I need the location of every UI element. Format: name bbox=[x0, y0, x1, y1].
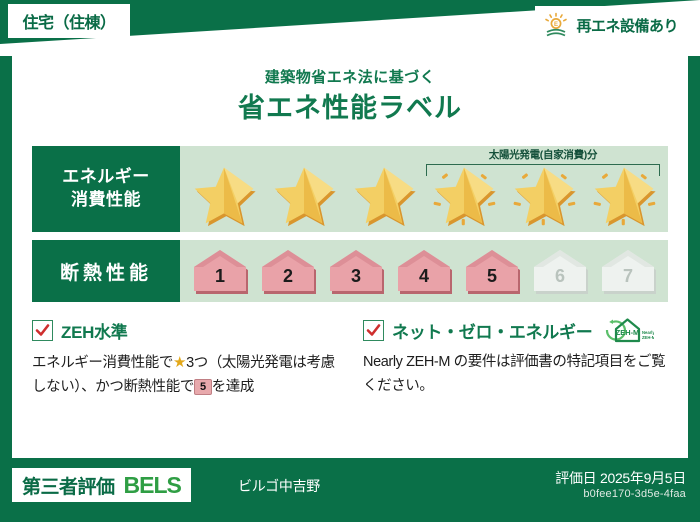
insulation-level-number: 4 bbox=[393, 266, 455, 287]
label-subtitle: 建築物省エネ法に基づく bbox=[12, 66, 688, 87]
claim-zeh-title: ZEH水準 bbox=[61, 318, 128, 343]
insulation-row-value: 1 2 3 4 5 6 7 bbox=[180, 240, 668, 302]
bels-logo-text: BELS bbox=[124, 472, 181, 499]
evaluation-id: b0fee170-3d5e-4faa bbox=[583, 488, 686, 500]
insulation-level-scale: 1 2 3 4 5 6 7 bbox=[180, 240, 668, 302]
energy-consumption-row: エネルギー 消費性能 太陽光発電(自家消費)分 bbox=[32, 146, 668, 232]
solar-sun-icon: E bbox=[543, 12, 569, 38]
energy-key-line1: エネルギー bbox=[62, 166, 150, 189]
insulation-level-house-icon: 2 bbox=[257, 246, 319, 296]
energy-row-value: 太陽光発電(自家消費)分 bbox=[180, 146, 668, 232]
insulation-level-number: 1 bbox=[189, 266, 251, 287]
check-icon bbox=[363, 320, 384, 341]
bels-certification-chip: 第三者評価 BELS bbox=[12, 468, 191, 502]
star-icon bbox=[187, 162, 261, 228]
label-title: 省エネ性能ラベル bbox=[12, 86, 688, 125]
insulation-row-key: 断熱性能 bbox=[32, 240, 180, 302]
inline-star-icon: ★ bbox=[173, 354, 186, 371]
claim-zeh-standard: ZEH水準 エネルギー消費性能で★3つ（太陽光発電は考慮しない）、かつ断熱性能で… bbox=[32, 316, 337, 442]
renewable-badge-label: 再エネ設備あり bbox=[576, 15, 678, 36]
building-name: ビルゴ中吉野 bbox=[238, 476, 320, 496]
svg-text:ZEH-M: ZEH-M bbox=[642, 335, 654, 340]
claims-section: ZEH水準 エネルギー消費性能で★3つ（太陽光発電は考慮しない）、かつ断熱性能で… bbox=[32, 316, 668, 442]
insulation-level-house-icon: 5 bbox=[461, 246, 523, 296]
renewable-energy-badge: E 再エネ設備あり bbox=[535, 6, 690, 44]
third-party-eval-label: 第三者評価 bbox=[22, 472, 115, 499]
insulation-performance-row: 断熱性能 1 2 3 4 5 bbox=[32, 240, 668, 302]
insulation-level-house-icon: 7 bbox=[597, 246, 659, 296]
claim-net-zero-energy: ネット・ゼロ・エネルギー ZEH-M Nearly ZEH-M Nearly Z… bbox=[363, 316, 668, 442]
star-icon bbox=[427, 162, 501, 228]
star-icon bbox=[587, 162, 661, 228]
building-type-chip: 住宅（住棟） bbox=[8, 4, 130, 38]
insulation-level-house-icon: 1 bbox=[189, 246, 251, 296]
evaluation-date: 評価日 2025年9月5日 bbox=[555, 468, 686, 488]
star-rating bbox=[180, 160, 668, 230]
insulation-level-number: 3 bbox=[325, 266, 387, 287]
claim-nze-title: ネット・ゼロ・エネルギー bbox=[392, 318, 592, 343]
header: 住宅（住棟） E 再エネ設備あり bbox=[0, 0, 700, 56]
check-icon bbox=[32, 320, 53, 341]
zeh-m-house-logo: ZEH-M Nearly ZEH-M bbox=[602, 316, 654, 344]
star-icon bbox=[267, 162, 341, 228]
energy-key-line2: 消費性能 bbox=[71, 189, 141, 212]
claim-zeh-body: エネルギー消費性能で★3つ（太陽光発電は考慮しない）、かつ断熱性能で5を達成 bbox=[32, 351, 337, 400]
energy-performance-label: 住宅（住棟） E 再エネ設備あり bbox=[0, 0, 700, 522]
energy-row-key: エネルギー 消費性能 bbox=[32, 146, 180, 232]
label-card: 建築物省エネ法に基づく 省エネ性能ラベル エネルギー 消費性能 太陽光発電(自家… bbox=[12, 54, 688, 458]
footer: 第三者評価 BELS ビルゴ中吉野 評価日 2025年9月5日 b0fee170… bbox=[0, 458, 700, 522]
claim-zeh-text-after: を達成 bbox=[212, 379, 254, 395]
star-icon bbox=[347, 162, 421, 228]
claim-nze-body: Nearly ZEH-M の要件は評価書の特記項目をご覧ください。 bbox=[363, 351, 668, 399]
inline-level-badge: 5 bbox=[194, 379, 212, 395]
claim-zeh-text-before: エネルギー消費性能で bbox=[32, 355, 173, 371]
claim-nze-header: ネット・ゼロ・エネルギー ZEH-M Nearly ZEH-M bbox=[363, 316, 668, 344]
star-icon bbox=[507, 162, 581, 228]
insulation-level-number: 5 bbox=[461, 266, 523, 287]
insulation-level-number: 6 bbox=[529, 266, 591, 287]
insulation-level-number: 7 bbox=[597, 266, 659, 287]
insulation-level-house-icon: 3 bbox=[325, 246, 387, 296]
insulation-level-house-icon: 4 bbox=[393, 246, 455, 296]
claim-zeh-header: ZEH水準 bbox=[32, 316, 337, 344]
building-type-label: 住宅（住棟） bbox=[22, 9, 115, 33]
insulation-level-number: 2 bbox=[257, 266, 319, 287]
svg-text:E: E bbox=[554, 22, 558, 28]
svg-text:ZEH-M: ZEH-M bbox=[616, 328, 639, 337]
insulation-level-house-icon: 6 bbox=[529, 246, 591, 296]
